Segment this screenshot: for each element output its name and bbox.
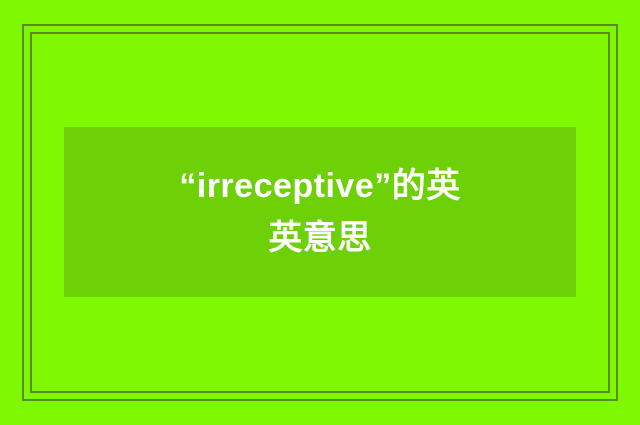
poster-canvas: “irreceptive”的英英意思 — [0, 0, 640, 425]
title-panel: “irreceptive”的英英意思 — [64, 127, 576, 297]
page-title: “irreceptive”的英英意思 — [170, 160, 470, 264]
